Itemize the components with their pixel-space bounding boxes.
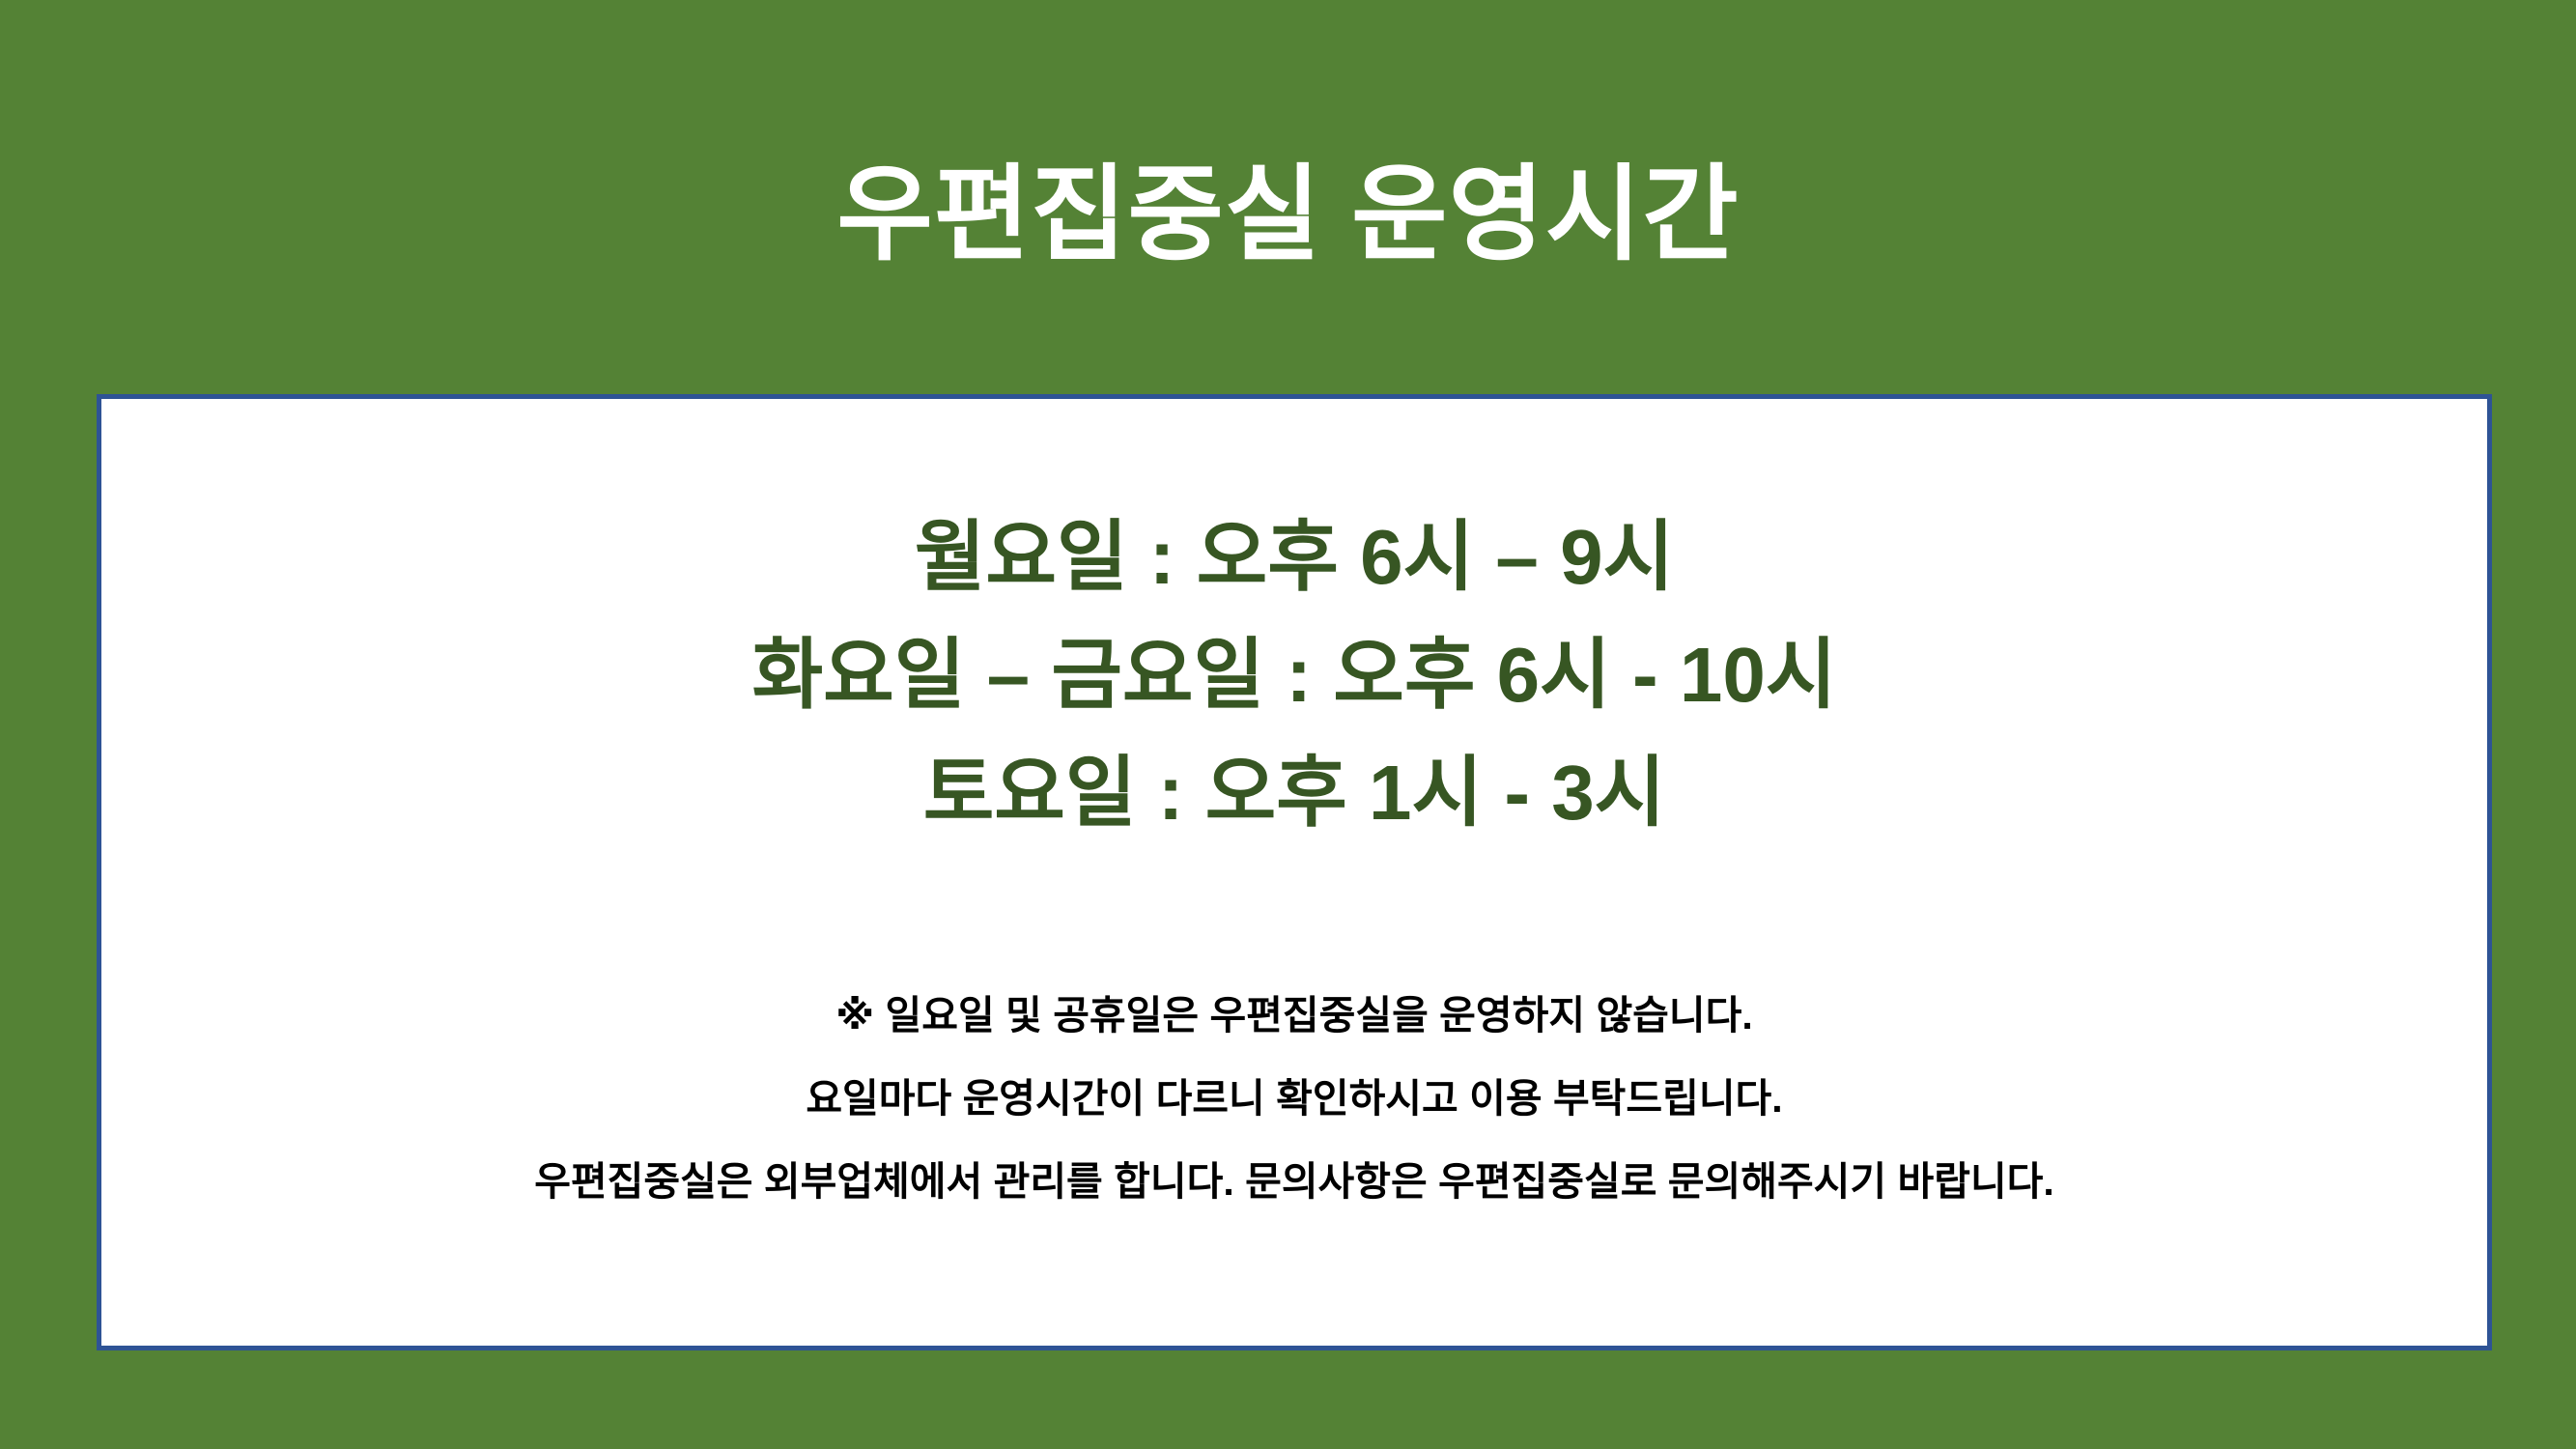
schedule-list: 월요일 : 오후 6시 – 9시 화요일 – 금요일 : 오후 6시 - 10시… [101,507,2487,861]
note-row: ※ 일요일 및 공휴일은 우편집중실을 운영하지 않습니다. [101,986,2487,1069]
schedule-row: 토요일 : 오후 1시 - 3시 [101,743,2487,861]
page-title: 우편집중실 운영시간 [0,153,2576,275]
poster-root: 우편집중실 운영시간 월요일 : 오후 6시 – 9시 화요일 – 금요일 : … [0,0,2576,1449]
schedule-row: 화요일 – 금요일 : 오후 6시 - 10시 [101,625,2487,743]
note-row: 우편집중실은 외부업체에서 관리를 합니다. 문의사항은 우편집중실로 문의해주… [101,1152,2487,1236]
schedule-row: 월요일 : 오후 6시 – 9시 [101,507,2487,625]
note-row: 요일마다 운영시간이 다르니 확인하시고 이용 부탁드립니다. [101,1069,2487,1152]
notes-list: ※ 일요일 및 공휴일은 우편집중실을 운영하지 않습니다. 요일마다 운영시간… [101,986,2487,1236]
info-card: 월요일 : 오후 6시 – 9시 화요일 – 금요일 : 오후 6시 - 10시… [97,394,2492,1350]
